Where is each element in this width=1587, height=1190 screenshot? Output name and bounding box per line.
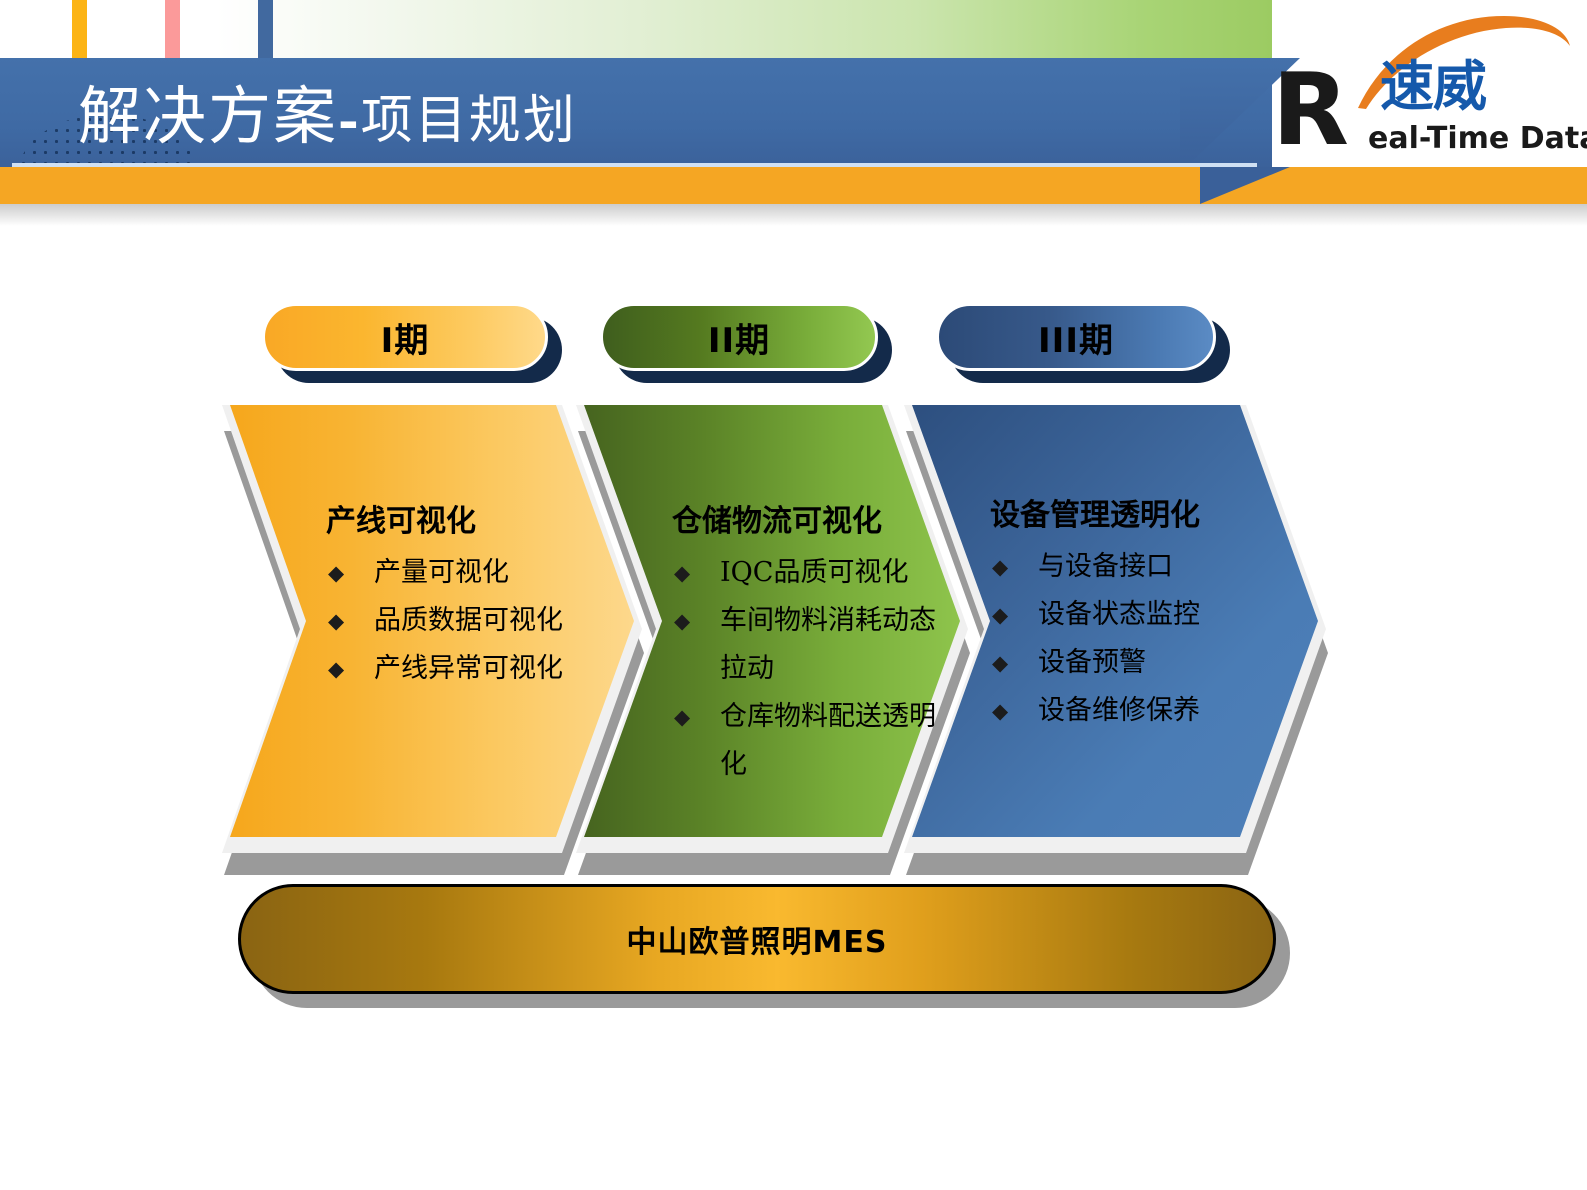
phase-pill-3[interactable]: III期 — [936, 303, 1216, 387]
diamond-bullet-icon: ◆ — [992, 687, 1008, 735]
chevron-1-content: 产线可视化 ◆产量可视化 ◆品质数据可视化 ◆产线异常可视化 — [326, 503, 626, 693]
footer-bar[interactable]: 中山欧普照明MES — [238, 884, 1276, 994]
phase-pill-3-label: III期 — [1038, 313, 1114, 362]
page-title-sub: 项目规划 — [361, 91, 577, 151]
phase-pill-2-label: II期 — [708, 313, 770, 362]
list-item: ◆与设备接口 — [990, 543, 1280, 591]
diamond-bullet-icon: ◆ — [674, 693, 690, 741]
chevron-3-title: 设备管理透明化 — [990, 497, 1280, 535]
list-item-label: 设备维修保养 — [1038, 695, 1200, 726]
logo-letter-r: R — [1272, 60, 1349, 160]
top-gradient-strip — [0, 0, 1272, 58]
diamond-bullet-icon: ◆ — [992, 543, 1008, 591]
phase-pill-2-body[interactable]: II期 — [600, 303, 878, 371]
list-item-label: 产量可视化 — [374, 557, 509, 588]
header-accent-band — [0, 167, 1587, 204]
company-logo: R 速威 eal-Time Data — [1268, 8, 1580, 168]
chevron-2-bullet-list: ◆IQC品质可视化 ◆车间物料消耗动态拉动 ◆仓库物料配送透明化 — [672, 549, 962, 789]
chevron-1-bullet-list: ◆产量可视化 ◆品质数据可视化 ◆产线异常可视化 — [326, 549, 626, 693]
diamond-bullet-icon: ◆ — [328, 597, 344, 645]
decor-strip-blue — [258, 0, 273, 58]
phase-pill-1-body[interactable]: I期 — [262, 303, 548, 371]
list-item: ◆产量可视化 — [326, 549, 626, 597]
list-item-label: 车间物料消耗动态拉动 — [720, 605, 936, 684]
page-title: 解决方案-项目规划 — [78, 64, 1178, 170]
chevron-band: 产线可视化 ◆产量可视化 ◆品质数据可视化 ◆产线异常可视化 仓储物流可视化 ◆… — [200, 405, 1380, 875]
page-title-main: 解决方案 — [78, 80, 338, 153]
logo-brand-cn: 速威 — [1380, 60, 1486, 114]
list-item: ◆设备状态监控 — [990, 591, 1280, 639]
header-drop-shadow — [0, 204, 1587, 226]
logo-tagline: eal-Time Data — [1368, 124, 1587, 154]
list-item: ◆设备维修保养 — [990, 687, 1280, 735]
diamond-bullet-icon: ◆ — [328, 549, 344, 597]
slide-bottom-edge — [0, 1178, 1587, 1190]
decor-strip-pink — [165, 0, 180, 58]
list-item-label: 仓库物料配送透明化 — [720, 701, 936, 780]
chevron-1-title: 产线可视化 — [326, 503, 626, 541]
chevron-3-bullet-list: ◆与设备接口 ◆设备状态监控 ◆设备预警 ◆设备维修保养 — [990, 543, 1280, 735]
list-item: ◆车间物料消耗动态拉动 — [672, 597, 962, 693]
diamond-bullet-icon: ◆ — [674, 549, 690, 597]
phase-pill-1-label: I期 — [381, 313, 430, 362]
list-item: ◆IQC品质可视化 — [672, 549, 962, 597]
chevron-2-title: 仓储物流可视化 — [672, 503, 962, 541]
diamond-bullet-icon: ◆ — [328, 645, 344, 693]
diamond-bullet-icon: ◆ — [674, 597, 690, 645]
list-item: ◆品质数据可视化 — [326, 597, 626, 645]
diamond-bullet-icon: ◆ — [992, 591, 1008, 639]
list-item: ◆设备预警 — [990, 639, 1280, 687]
footer-bar-label: 中山欧普照明MES — [627, 917, 888, 961]
diamond-bullet-icon: ◆ — [992, 639, 1008, 687]
list-item-label: 设备状态监控 — [1038, 599, 1200, 630]
phase-pill-2[interactable]: II期 — [600, 303, 878, 387]
list-item-label: 品质数据可视化 — [374, 605, 563, 636]
list-item: ◆仓库物料配送透明化 — [672, 693, 962, 789]
chevron-2-content: 仓储物流可视化 ◆IQC品质可视化 ◆车间物料消耗动态拉动 ◆仓库物料配送透明化 — [672, 503, 962, 789]
phase-pill-1[interactable]: I期 — [262, 303, 548, 387]
phase-pill-3-body[interactable]: III期 — [936, 303, 1216, 371]
list-item-label: IQC品质可视化 — [720, 557, 908, 588]
chevron-3-content: 设备管理透明化 ◆与设备接口 ◆设备状态监控 ◆设备预警 ◆设备维修保养 — [990, 497, 1280, 735]
list-item: ◆产线异常可视化 — [326, 645, 626, 693]
page-title-dash: - — [338, 91, 361, 150]
list-item-label: 设备预警 — [1038, 647, 1146, 678]
list-item-label: 与设备接口 — [1038, 551, 1173, 582]
decor-strip-orange — [72, 0, 87, 58]
list-item-label: 产线异常可视化 — [374, 653, 563, 684]
